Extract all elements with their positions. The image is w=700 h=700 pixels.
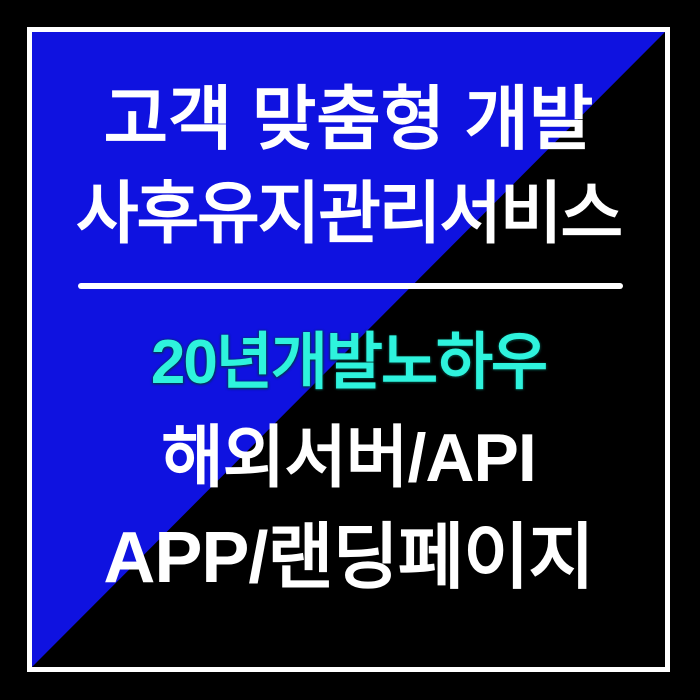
headline-line-2: 사후유지관리서비스 [32, 180, 665, 248]
banner-content: 고객 맞춤형 개발 사후유지관리서비스 20년개발노하우 해외서버/API AP… [32, 32, 665, 667]
highlight-line-experience: 20년개발노하우 [32, 332, 665, 394]
promo-banner: 고객 맞춤형 개발 사후유지관리서비스 20년개발노하우 해외서버/API AP… [0, 0, 700, 700]
service-line-server-api: 해외서버/API [32, 424, 665, 492]
service-line-app-landing: APP/랜딩페이지 [32, 522, 665, 594]
headline-line-1: 고객 맞춤형 개발 [32, 84, 665, 154]
section-divider [78, 283, 623, 289]
